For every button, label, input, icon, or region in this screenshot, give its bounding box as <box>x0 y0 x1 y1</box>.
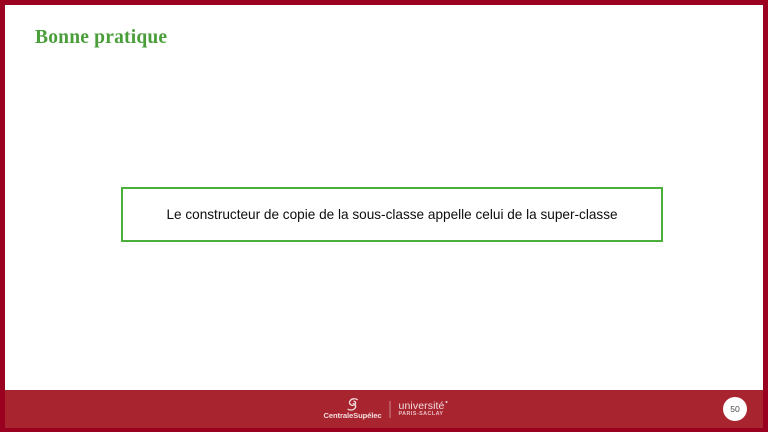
centralesupelec-wordmark: CentraleSupélec <box>324 412 382 420</box>
slide-title: Bonne pratique <box>35 27 167 49</box>
universite-paris-saclay-logo: université PARIS-SACLAY <box>399 401 445 418</box>
universite-wordmark: université <box>399 401 445 412</box>
presentation-slide: Bonne pratique Le constructeur de copie … <box>0 0 768 432</box>
page-number: 50 <box>730 405 740 414</box>
slide-frame-left <box>0 0 5 432</box>
slide-frame-top <box>0 0 768 5</box>
centralesupelec-swirl-icon <box>343 398 363 411</box>
centralesupelec-logo: CentraleSupélec <box>324 398 382 420</box>
statement-callout-box: Le constructeur de copie de la sous-clas… <box>121 187 663 242</box>
footer-logo-group: CentraleSupélec université PARIS-SACLAY <box>324 390 445 428</box>
paris-saclay-subtitle: PARIS-SACLAY <box>399 412 444 417</box>
statement-text: Le constructeur de copie de la sous-clas… <box>166 206 617 223</box>
slide-frame-bottom <box>0 428 768 432</box>
page-number-badge: 50 <box>723 397 747 421</box>
logo-divider <box>390 401 391 418</box>
slide-frame-right <box>763 0 768 432</box>
universite-accent-dot-icon <box>445 401 447 403</box>
slide-footer: CentraleSupélec université PARIS-SACLAY … <box>5 390 763 428</box>
